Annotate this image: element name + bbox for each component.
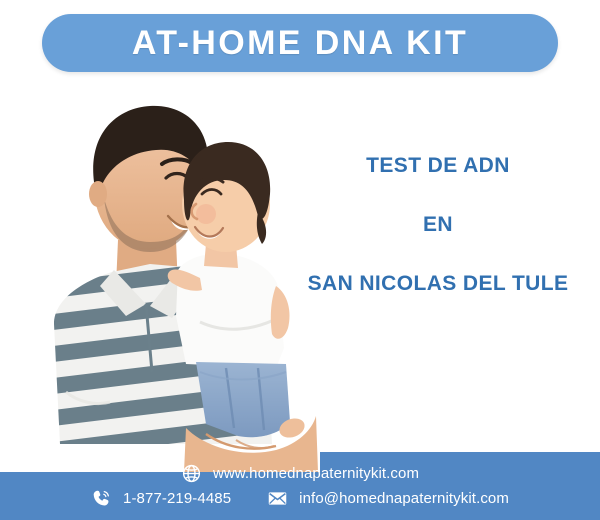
phone-text: 1-877-219-4485: [123, 490, 231, 507]
header-banner: AT-HOME DNA KIT: [0, 14, 600, 72]
globe-icon: [181, 463, 202, 484]
father-and-child-photo: [0, 72, 320, 472]
headline-line-3: SAN NICOLAS DEL TULE: [288, 273, 588, 294]
footer-row-website: www.homednapaternitykit.com: [181, 463, 419, 484]
footer-row-phone-email: 1-877-219-4485 info@homednapaternitykit.…: [91, 488, 509, 509]
footer-contact-info: www.homednapaternitykit.com 1-877-219-44…: [0, 452, 600, 520]
header-title: AT-HOME DNA KIT: [132, 26, 468, 60]
website-contact[interactable]: www.homednapaternitykit.com: [181, 463, 419, 484]
headline-block: TEST DE ADN EN SAN NICOLAS DEL TULE: [288, 155, 588, 294]
email-text: info@homednapaternitykit.com: [299, 490, 509, 507]
envelope-icon: [267, 488, 288, 509]
dna-kit-promo-banner: AT-HOME DNA KIT: [0, 0, 600, 520]
website-text: www.homednapaternitykit.com: [213, 465, 419, 482]
phone-contact[interactable]: 1-877-219-4485: [91, 488, 231, 509]
header-pill: AT-HOME DNA KIT: [42, 14, 558, 72]
email-contact[interactable]: info@homednapaternitykit.com: [267, 488, 509, 509]
phone-icon: [91, 488, 112, 509]
headline-line-2: EN: [288, 214, 588, 235]
headline-line-1: TEST DE ADN: [288, 155, 588, 176]
